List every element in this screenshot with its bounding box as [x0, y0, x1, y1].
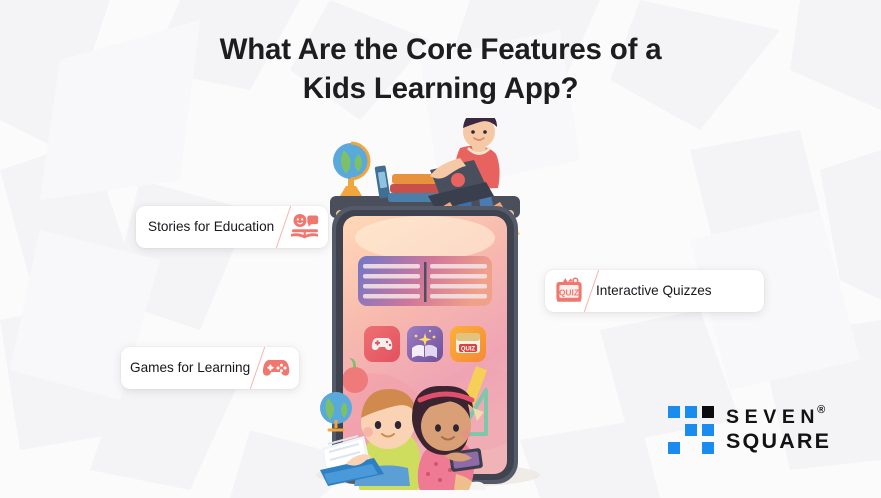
feature-label-stories: Stories for Education — [148, 220, 274, 234]
logo-mark-squares — [668, 406, 714, 454]
svg-text:QUIZ: QUIZ — [559, 287, 579, 297]
logo-square-r3c3 — [702, 442, 714, 454]
logo-square-r2c1 — [668, 424, 680, 436]
quiz-clipboard-icon: QUIZ — [552, 274, 586, 308]
logo-square-r2c3 — [702, 424, 714, 436]
feature-card-interactive-quizzes[interactable]: QUIZ Interactive Quizzes — [545, 270, 764, 312]
feature-card-games-for-learning[interactable]: Games for Learning — [121, 347, 299, 389]
feature-label-quizzes: Interactive Quizzes — [596, 284, 712, 298]
logo-text-square: SQUARE — [726, 431, 831, 453]
feature-card-stories-for-education[interactable]: Stories for Education — [136, 206, 328, 248]
open-book-face-icon — [288, 210, 322, 244]
app-icon-quiz: QUIZ — [450, 326, 486, 362]
page-title-line-2: Kids Learning App? — [0, 69, 881, 108]
seven-square-logo[interactable]: SEVEN® SQUARE — [668, 406, 831, 454]
globe-icon — [333, 143, 369, 196]
logo-square-r1c2 — [685, 406, 697, 418]
app-icon-story-book — [407, 326, 443, 362]
logo-square-r1c3 — [702, 406, 714, 418]
feature-label-games: Games for Learning — [130, 361, 250, 375]
kids-learning-tablet-illustration: QUIZ — [300, 118, 550, 490]
app-icon-gamepad — [364, 326, 400, 362]
registered-trademark-icon: ® — [817, 404, 825, 416]
logo-square-r3c2 — [685, 442, 697, 454]
logo-text-seven: SEVEN — [726, 408, 820, 428]
page-title: What Are the Core Features of a Kids Lea… — [0, 30, 881, 108]
page-title-line-1: What Are the Core Features of a — [0, 30, 881, 69]
logo-square-r3c1 — [668, 442, 680, 454]
svg-text:QUIZ: QUIZ — [461, 346, 476, 352]
logo-square-r1c1 — [668, 406, 680, 418]
logo-wordmark: SEVEN® SQUARE — [726, 408, 831, 452]
logo-square-r2c2 — [685, 424, 697, 436]
gamepad-icon — [259, 351, 293, 385]
